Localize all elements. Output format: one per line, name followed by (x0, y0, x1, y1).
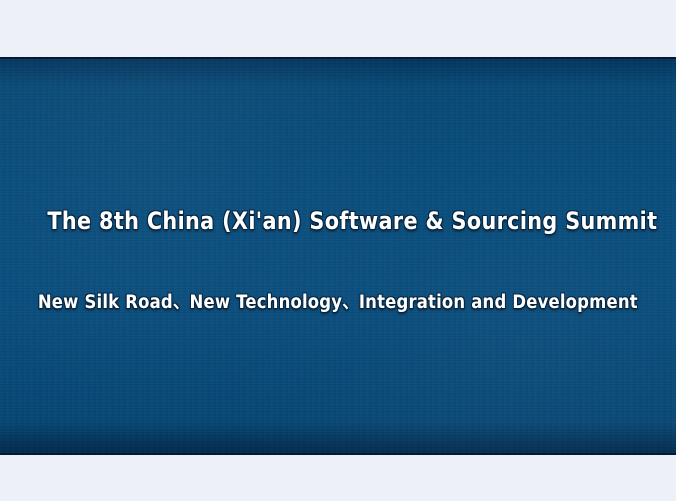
poster-subtitle-english: The 8th China (Xi'an) Software & Sourcin… (0, 206, 676, 236)
poster-slogan-english: New Silk Road、New Technology、Integration… (0, 291, 676, 315)
event-poster: 第八届中国西安国际软件服务外包大会 The 8th China (Xi'an) … (0, 0, 676, 501)
poster-venue-date-chinese: （中国·西安，10月24日） (0, 326, 676, 372)
poster-slogan-chinese: 新丝路、新技术、大融合 (0, 245, 676, 289)
poster-text-content: 第八届中国西安国际软件服务外包大会 The 8th China (Xi'an) … (0, 0, 676, 501)
poster-title-chinese: 第八届中国西安国际软件服务外包大会 (0, 140, 676, 196)
